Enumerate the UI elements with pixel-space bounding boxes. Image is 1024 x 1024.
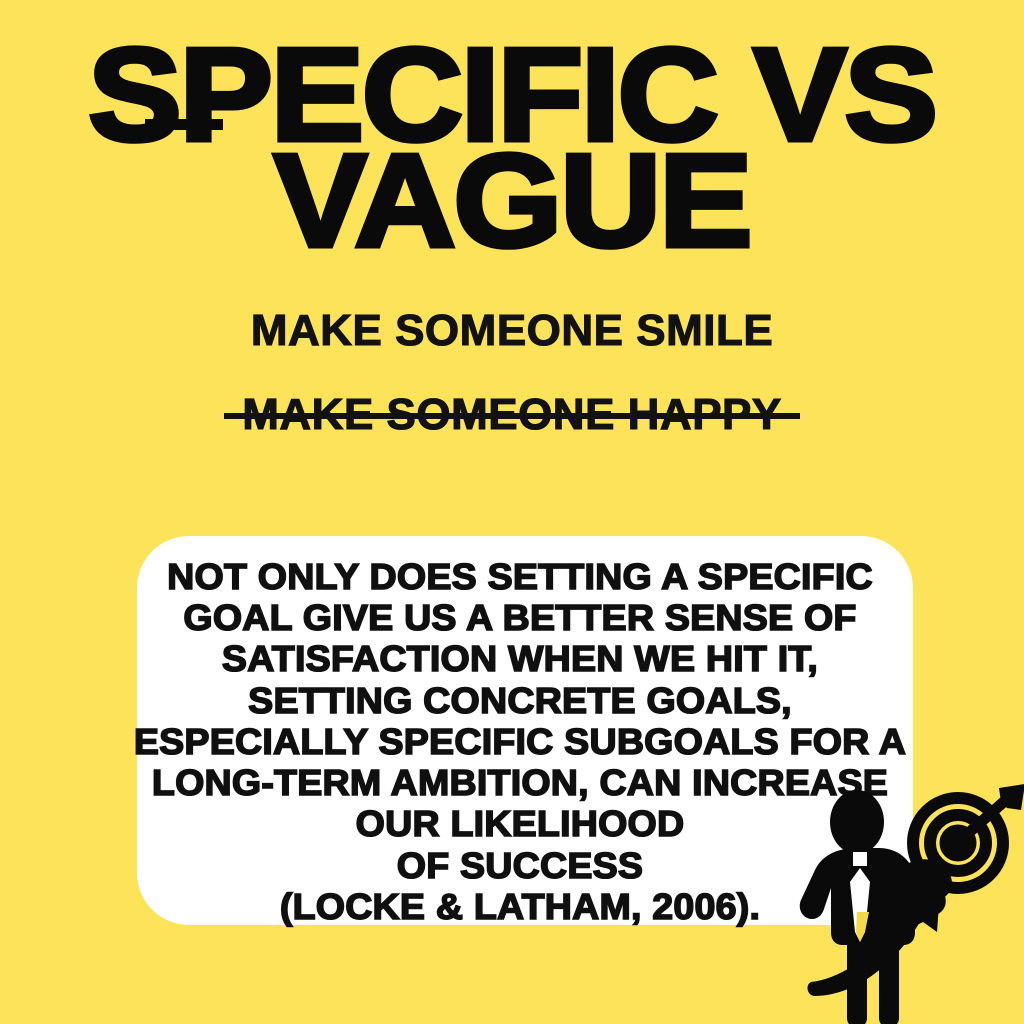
bad-example-row: MAKE SOMEONE HAPPY: [0, 390, 1024, 440]
strikethrough-line: [224, 413, 800, 419]
poster-canvas: SPECIFIC VS VAGUE MAKE SOMEONE SMILE MAK…: [0, 0, 1024, 1024]
title-line-2: VAGUE: [0, 148, 1024, 254]
businessman-target-arrow-illustration: [795, 782, 1024, 1024]
poster-title: SPECIFIC VS VAGUE: [0, 42, 1024, 253]
quote-line-4: SETTING CONCRETE GOALS,: [108, 680, 932, 721]
title-s-underline: [145, 119, 223, 130]
quote-line-3: SATISFACTION WHEN WE HIT IT,: [108, 638, 932, 679]
quote-line-1: NOT ONLY DOES SETTING A SPECIFIC: [108, 556, 932, 597]
bad-example-wrapper: MAKE SOMEONE HAPPY: [242, 390, 782, 440]
good-example-text: MAKE SOMEONE SMILE: [0, 306, 1024, 356]
quote-line-2: GOAL GIVE US A BETTER SENSE OF: [108, 597, 932, 638]
quote-line-5: ESPECIALLY SPECIFIC SUBGOALS FOR A: [108, 721, 932, 762]
